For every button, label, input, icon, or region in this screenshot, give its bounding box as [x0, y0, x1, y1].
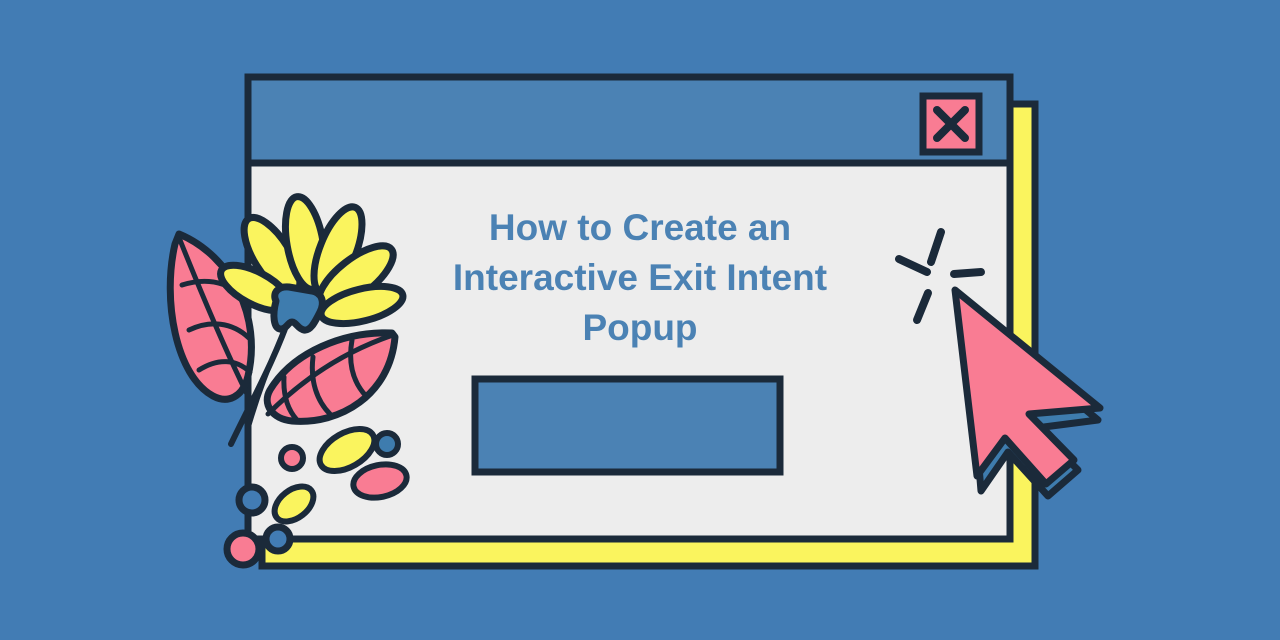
sparkle-line-right	[954, 272, 981, 274]
poster-canvas: How to Create an Interactive Exit Intent…	[0, 0, 1280, 640]
dot-blue-ring	[376, 433, 398, 455]
dot-pink-small	[281, 447, 303, 469]
close-button[interactable]	[923, 96, 979, 152]
dot-pink-large	[227, 533, 259, 565]
ring-blue-upper	[239, 487, 265, 513]
page-title-line-3: Popup	[582, 307, 697, 348]
ring-blue-lower	[266, 527, 290, 551]
flower-center	[274, 287, 322, 330]
leaf-upper-left	[170, 234, 251, 400]
window-titlebar	[248, 77, 1010, 163]
cta-button[interactable]	[475, 379, 780, 472]
page-title-line-2: Interactive Exit Intent	[453, 257, 827, 298]
page-title-line-1: How to Create an	[489, 207, 791, 248]
illustration-root: How to Create an Interactive Exit Intent…	[0, 0, 1280, 640]
